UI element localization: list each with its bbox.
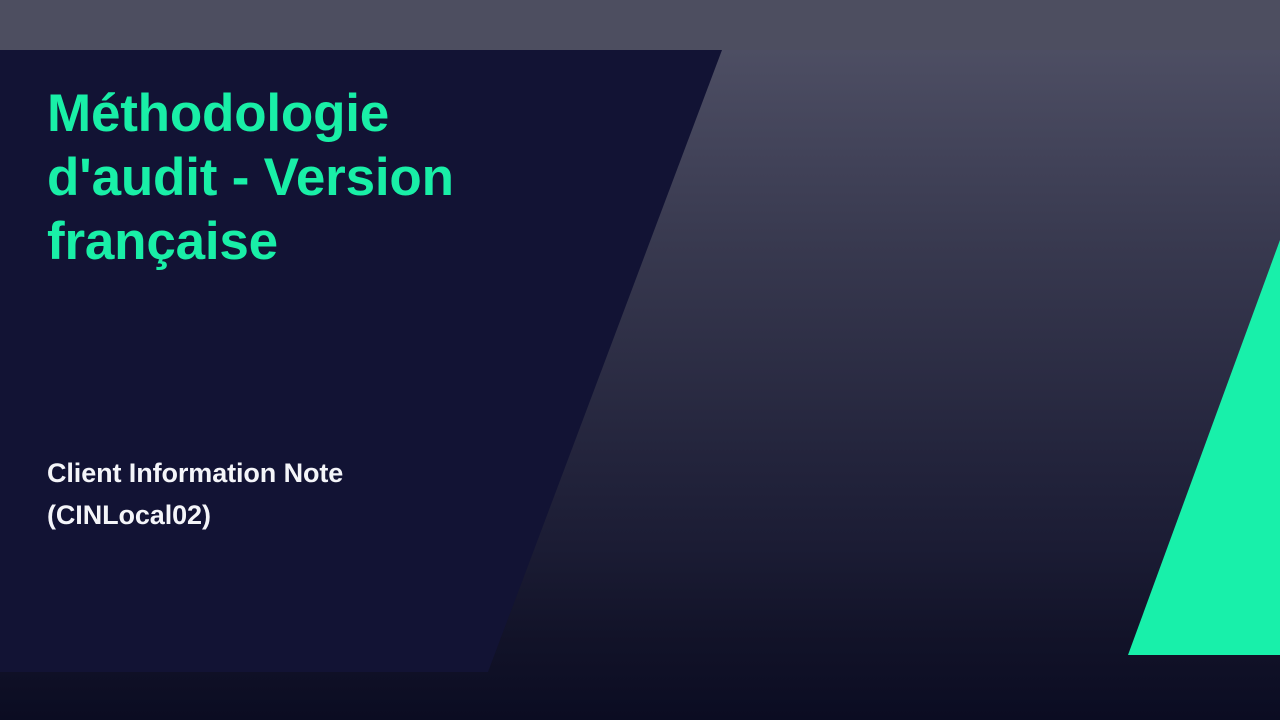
title-block: Méthodologie d'audit - Version française: [47, 82, 517, 274]
top-slate-band: [0, 0, 1280, 50]
page-title: Méthodologie d'audit - Version française: [47, 82, 517, 274]
subtitle-block: Client Information Note (CINLocal02): [47, 452, 517, 536]
slide-subtitle: Client Information Note (CINLocal02): [47, 452, 517, 536]
title-slide: Méthodologie d'audit - Version française…: [0, 0, 1280, 720]
green-triangle-accent: [1100, 230, 1280, 662]
